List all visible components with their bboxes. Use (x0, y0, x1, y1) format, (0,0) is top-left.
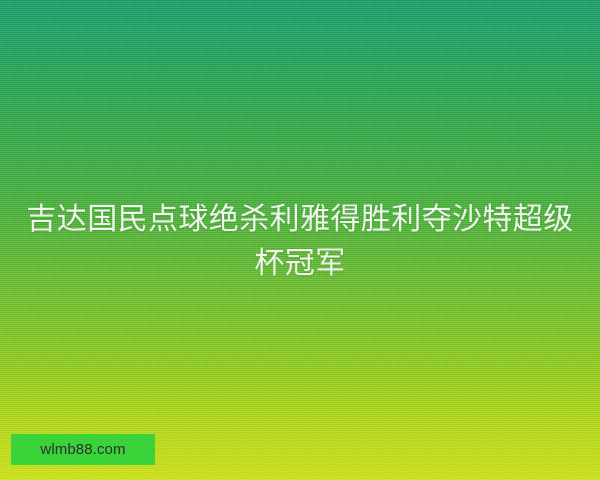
watermark-badge: wlmb88.com (11, 434, 155, 465)
headline-text: 吉达国民点球绝杀利雅得胜利夺沙特超级杯冠军 (0, 198, 600, 286)
watermark-label: wlmb88.com (40, 442, 125, 457)
thumbnail-canvas: 吉达国民点球绝杀利雅得胜利夺沙特超级杯冠军 wlmb88.com (0, 0, 600, 480)
